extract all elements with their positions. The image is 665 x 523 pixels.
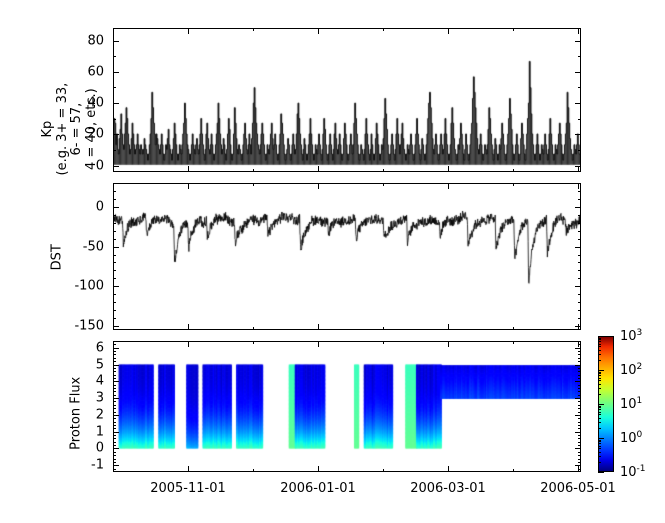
- kp-y-tick-right: [575, 72, 581, 73]
- colorbar-minor-tick: [598, 375, 601, 376]
- dst-y-tick-label: -150: [74, 319, 104, 334]
- pf-y-minor-tick: [113, 418, 116, 419]
- pf-y-minor-tick: [113, 428, 116, 429]
- pf-y-minor-tick: [113, 368, 116, 369]
- pf-y-tick: [113, 448, 119, 449]
- pf-y-minor-tick-right: [578, 422, 581, 423]
- pf-y-tick-label: 6: [96, 340, 104, 355]
- pf-y-minor-tick-right: [578, 361, 581, 362]
- pf-y-minor-tick: [113, 361, 116, 362]
- kp-x-tick: [188, 166, 189, 172]
- kp-x-tick-top: [253, 28, 254, 31]
- pf-y-minor-tick: [113, 455, 116, 456]
- dst-y-tick: [113, 207, 119, 208]
- kp-x-tick: [383, 169, 384, 172]
- pf-y-tick: [113, 381, 119, 382]
- dst-y-minor-tick: [113, 255, 116, 256]
- figure-canvas: 020406080 Kp (e.g. 3+ = 33, 6- = 57, 4 =…: [0, 0, 665, 523]
- pf-y-minor-tick: [113, 385, 116, 386]
- dst-x-tick: [318, 324, 319, 330]
- pf-y-tick-label: -1: [91, 458, 104, 473]
- pf-y-minor-tick-right: [578, 459, 581, 460]
- pf-x-tick: [578, 466, 579, 472]
- pf-y-tick-label: 1: [96, 424, 104, 439]
- dst-y-tick: [113, 286, 119, 287]
- colorbar-minor-tick: [598, 350, 601, 351]
- pf-y-minor-tick: [113, 401, 116, 402]
- pf-x-tick-top: [513, 341, 514, 344]
- pf-y-minor-tick: [113, 395, 116, 396]
- pf-y-tick: [113, 398, 119, 399]
- pf-y-tick-right: [575, 415, 581, 416]
- kp-y-tick: [113, 41, 119, 42]
- kp-y-tick-right: [575, 41, 581, 42]
- proton-flux-spectrogram-canvas: [114, 342, 580, 471]
- pf-y-minor-tick-right: [578, 395, 581, 396]
- pf-y-minor-tick-right: [578, 388, 581, 389]
- colorbar-minor-tick: [598, 341, 601, 342]
- pf-y-minor-tick: [113, 442, 116, 443]
- pf-y-tick: [113, 348, 119, 349]
- dst-x-tick: [578, 324, 579, 330]
- colorbar-tick-label: 102: [620, 362, 642, 378]
- dst-y-minor-tick: [113, 199, 116, 200]
- kp-y-tick: [113, 72, 119, 73]
- kp-x-tick-top: [113, 28, 114, 31]
- panel-dst: [113, 183, 581, 330]
- pf-y-tick-label: 3: [96, 391, 104, 406]
- dst-y-minor-tick-right: [578, 231, 581, 232]
- kp-y-minor-tick-right: [578, 150, 581, 151]
- dst-x-tick: [188, 324, 189, 330]
- pf-y-tick-label: 0: [96, 441, 104, 456]
- dst-x-tick-top: [513, 183, 514, 186]
- colorbar-minor-tick: [598, 452, 601, 453]
- dst-y-minor-tick-right: [578, 255, 581, 256]
- dst-y-minor-tick-right: [578, 215, 581, 216]
- pf-y-tick: [113, 465, 119, 466]
- colorbar-tick: [598, 404, 604, 405]
- dst-y-minor-tick-right: [578, 262, 581, 263]
- colorbar-minor-tick: [598, 372, 601, 373]
- pf-y-minor-tick: [113, 412, 116, 413]
- colorbar-minor-tick: [598, 339, 601, 340]
- pf-y-tick-right: [575, 348, 581, 349]
- dst-y-tick-right: [575, 286, 581, 287]
- pf-y-minor-tick: [113, 435, 116, 436]
- dst-x-tick-top: [318, 183, 319, 189]
- colorbar-minor-tick: [598, 446, 601, 447]
- pf-y-tick-label: 2: [96, 407, 104, 422]
- kp-x-tick-top: [578, 28, 579, 34]
- pf-y-tick: [113, 365, 119, 366]
- pf-y-minor-tick: [113, 388, 116, 389]
- pf-y-minor-tick-right: [578, 371, 581, 372]
- kp-x-tick-top: [188, 28, 189, 34]
- dst-y-minor-tick-right: [578, 278, 581, 279]
- colorbar-minor-tick: [598, 414, 601, 415]
- x-tick-label: 2006-03-01: [410, 481, 486, 496]
- pf-x-tick: [318, 466, 319, 472]
- kp-x-tick: [448, 166, 449, 172]
- colorbar-minor-tick: [598, 380, 601, 381]
- pf-y-minor-tick: [113, 408, 116, 409]
- pf-y-minor-tick-right: [578, 452, 581, 453]
- colorbar-tick: [598, 438, 604, 439]
- pf-y-minor-tick-right: [578, 378, 581, 379]
- kp-series-canvas: [114, 29, 580, 171]
- colorbar-minor-tick: [598, 406, 601, 407]
- dst-y-tick-label: 0: [96, 199, 104, 214]
- pf-x-tick: [113, 469, 114, 472]
- pf-x-tick-top: [188, 341, 189, 347]
- kp-y-minor-tick-right: [578, 87, 581, 88]
- colorbar-minor-tick: [598, 407, 601, 408]
- panel-kp: [113, 28, 581, 172]
- pf-y-tick-right: [575, 448, 581, 449]
- dst-y-tick-label: -50: [83, 239, 104, 254]
- kp-x-tick: [318, 166, 319, 172]
- dst-y-minor-tick-right: [578, 302, 581, 303]
- pf-y-minor-tick: [113, 391, 116, 392]
- dst-y-minor-tick-right: [578, 310, 581, 311]
- colorbar-minor-tick: [598, 378, 601, 379]
- kp-y-minor-tick-right: [578, 56, 581, 57]
- kp-y-tick: [113, 103, 119, 104]
- dst-y-minor-tick: [113, 318, 116, 319]
- colorbar-minor-tick: [598, 338, 601, 339]
- pf-y-minor-tick: [113, 371, 116, 372]
- colorbar-minor-tick: [598, 456, 601, 457]
- pf-y-minor-tick-right: [578, 401, 581, 402]
- colorbar-minor-tick: [598, 409, 601, 410]
- colorbar-tick: [598, 472, 604, 473]
- x-tick-label: 2006-05-01: [540, 481, 616, 496]
- kp-y-minor-tick-right: [578, 119, 581, 120]
- dst-x-tick-top: [253, 183, 254, 186]
- pf-y-minor-tick-right: [578, 442, 581, 443]
- colorbar-minor-tick: [598, 462, 601, 463]
- dst-y-minor-tick-right: [578, 318, 581, 319]
- kp-x-tick-top: [513, 28, 514, 31]
- dst-y-tick: [113, 247, 119, 248]
- pf-y-minor-tick-right: [578, 358, 581, 359]
- colorbar-minor-tick: [598, 360, 601, 361]
- dst-y-minor-tick-right: [578, 239, 581, 240]
- kp-y-tick-label: 80: [87, 33, 104, 48]
- dst-x-tick: [448, 324, 449, 330]
- pf-y-minor-tick-right: [578, 405, 581, 406]
- dst-y-minor-tick: [113, 294, 116, 295]
- kp-x-tick-top: [383, 28, 384, 31]
- proton-flux-plot-area: [114, 342, 580, 471]
- pf-y-tick-right: [575, 432, 581, 433]
- dst-plot-area: [114, 184, 580, 329]
- dst-x-tick: [113, 327, 114, 330]
- dst-y-minor-tick: [113, 215, 116, 216]
- pf-y-minor-tick-right: [578, 351, 581, 352]
- pf-x-tick-top: [113, 341, 114, 344]
- dst-y-tick-right: [575, 247, 581, 248]
- colorbar-minor-tick: [598, 441, 601, 442]
- pf-y-minor-tick: [113, 425, 116, 426]
- kp-x-tick-top: [448, 28, 449, 34]
- dst-y-minor-tick: [113, 310, 116, 311]
- pf-x-tick-top: [578, 341, 579, 347]
- pf-y-minor-tick-right: [578, 425, 581, 426]
- kp-y-minor-tick: [113, 119, 116, 120]
- pf-y-minor-tick: [113, 354, 116, 355]
- pf-y-minor-tick-right: [578, 438, 581, 439]
- colorbar-tick-label: 103: [620, 328, 642, 344]
- colorbar-minor-tick: [598, 440, 601, 441]
- pf-y-minor-tick-right: [578, 418, 581, 419]
- kp-y-tick-right: [575, 134, 581, 135]
- dst-y-minor-tick-right: [578, 223, 581, 224]
- pf-y-tick-right: [575, 381, 581, 382]
- kp-x-tick-top: [318, 28, 319, 34]
- colorbar-tick: [598, 336, 604, 337]
- dst-x-tick-top: [188, 183, 189, 189]
- dst-y-tick-right: [575, 207, 581, 208]
- pf-y-minor-tick-right: [578, 412, 581, 413]
- kp-y-minor-tick: [113, 150, 116, 151]
- kp-y-minor-tick: [113, 87, 116, 88]
- kp-x-tick: [113, 169, 114, 172]
- kp-y-tick: [113, 134, 119, 135]
- dst-y-minor-tick-right: [578, 199, 581, 200]
- colorbar-minor-tick: [598, 428, 601, 429]
- colorbar-minor-tick: [598, 354, 601, 355]
- kp-x-tick: [513, 169, 514, 172]
- colorbar-minor-tick: [598, 394, 601, 395]
- pf-x-tick-top: [318, 341, 319, 347]
- kp-y-tick: [113, 166, 119, 167]
- kp-x-tick: [253, 169, 254, 172]
- colorbar-minor-tick: [598, 344, 601, 345]
- x-tick-label: 2005-11-01: [150, 481, 226, 496]
- panel-proton-flux: [113, 341, 581, 472]
- dst-y-minor-tick-right: [578, 270, 581, 271]
- pf-y-tick: [113, 432, 119, 433]
- dst-y-minor-tick: [113, 231, 116, 232]
- dst-y-minor-tick: [113, 191, 116, 192]
- dst-y-minor-tick: [113, 302, 116, 303]
- pf-y-minor-tick: [113, 344, 116, 345]
- pf-y-tick-right: [575, 365, 581, 366]
- kp-y-tick-right: [575, 103, 581, 104]
- colorbar-minor-tick: [598, 373, 601, 374]
- pf-y-minor-tick-right: [578, 445, 581, 446]
- dst-series-canvas: [114, 184, 580, 329]
- dst-x-tick-top: [578, 183, 579, 189]
- colorbar-tick-label: 10-1: [620, 464, 646, 480]
- pf-x-tick-top: [253, 341, 254, 344]
- dst-x-tick-top: [448, 183, 449, 189]
- pf-y-minor-tick: [113, 358, 116, 359]
- kp-plot-area: [114, 29, 580, 171]
- colorbar-minor-tick: [598, 412, 601, 413]
- pf-y-tick-right: [575, 398, 581, 399]
- pf-y-minor-tick-right: [578, 455, 581, 456]
- pf-y-minor-tick: [113, 351, 116, 352]
- colorbar-tick-label: 100: [620, 430, 642, 446]
- dst-axis-title: DST: [51, 227, 66, 287]
- pf-y-minor-tick-right: [578, 354, 581, 355]
- kp-x-tick: [578, 166, 579, 172]
- kp-axis-title: Kp (e.g. 3+ = 33, 6- = 57, 4 = 40, etc.): [41, 49, 99, 209]
- dst-y-minor-tick: [113, 270, 116, 271]
- pf-x-tick: [188, 466, 189, 472]
- dst-x-tick-top: [113, 183, 114, 186]
- pf-y-minor-tick-right: [578, 385, 581, 386]
- pf-y-minor-tick: [113, 462, 116, 463]
- pf-y-tick-label: 4: [96, 374, 104, 389]
- colorbar-minor-tick: [598, 346, 601, 347]
- pf-x-tick: [513, 469, 514, 472]
- pf-y-minor-tick-right: [578, 408, 581, 409]
- colorbar-tick: [598, 370, 604, 371]
- dst-y-minor-tick-right: [578, 294, 581, 295]
- pf-y-minor-tick: [113, 422, 116, 423]
- colorbar-minor-tick: [598, 443, 601, 444]
- colorbar-minor-tick: [598, 422, 601, 423]
- pf-y-minor-tick-right: [578, 391, 581, 392]
- pf-y-minor-tick: [113, 452, 116, 453]
- dst-x-tick: [513, 327, 514, 330]
- dst-x-tick-top: [383, 183, 384, 186]
- pf-y-tick-label: 5: [96, 357, 104, 372]
- pf-x-tick: [383, 469, 384, 472]
- dst-x-tick: [253, 327, 254, 330]
- pf-y-minor-tick: [113, 459, 116, 460]
- pf-y-minor-tick-right: [578, 375, 581, 376]
- pf-y-minor-tick-right: [578, 428, 581, 429]
- dst-y-tick-label: -100: [74, 279, 104, 294]
- kp-y-minor-tick: [113, 56, 116, 57]
- pf-x-tick: [253, 469, 254, 472]
- pf-y-minor-tick: [113, 438, 116, 439]
- dst-y-minor-tick-right: [578, 191, 581, 192]
- dst-x-tick: [383, 327, 384, 330]
- colorbar-minor-tick: [598, 418, 601, 419]
- pf-y-minor-tick: [113, 445, 116, 446]
- colorbar-minor-tick: [598, 384, 601, 385]
- colorbar-minor-tick: [598, 388, 601, 389]
- dst-y-minor-tick: [113, 223, 116, 224]
- x-tick-label: 2006-01-01: [280, 481, 356, 496]
- pf-y-tick: [113, 415, 119, 416]
- pf-x-tick: [448, 466, 449, 472]
- pf-y-minor-tick: [113, 378, 116, 379]
- colorbar-minor-tick: [598, 448, 601, 449]
- pf-x-tick-top: [448, 341, 449, 347]
- dst-y-minor-tick: [113, 239, 116, 240]
- pf-y-minor-tick-right: [578, 368, 581, 369]
- pf-y-minor-tick: [113, 405, 116, 406]
- proton-flux-axis-title: Proton Flux: [70, 363, 85, 463]
- dst-y-minor-tick: [113, 278, 116, 279]
- pf-y-minor-tick: [113, 375, 116, 376]
- dst-y-minor-tick: [113, 262, 116, 263]
- pf-y-minor-tick-right: [578, 435, 581, 436]
- pf-x-tick-top: [383, 341, 384, 344]
- pf-y-minor-tick-right: [578, 462, 581, 463]
- colorbar-tick-label: 101: [620, 396, 642, 412]
